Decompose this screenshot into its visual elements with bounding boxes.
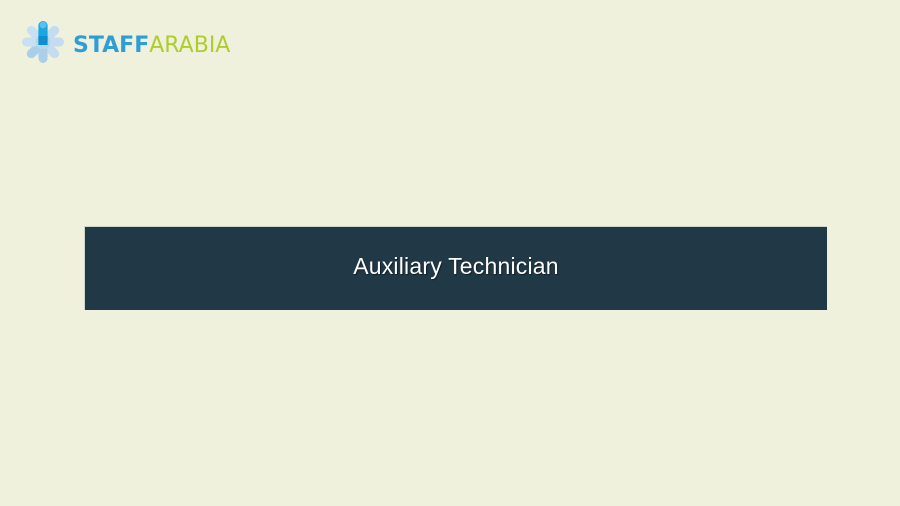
logo-wordmark-arabia: arabia xyxy=(149,27,230,58)
staffarabia-logo[interactable]: staffarabia xyxy=(20,16,280,68)
slide-canvas: staffarabia Auxiliary Technician xyxy=(0,0,900,506)
logo-wordmark-staff: staff xyxy=(73,27,149,58)
slide-title: Auxiliary Technician xyxy=(353,255,559,278)
asterisk-logo-icon xyxy=(20,19,66,65)
title-banner: Auxiliary Technician xyxy=(84,226,827,310)
logo-wordmark: staffarabia xyxy=(73,27,230,58)
